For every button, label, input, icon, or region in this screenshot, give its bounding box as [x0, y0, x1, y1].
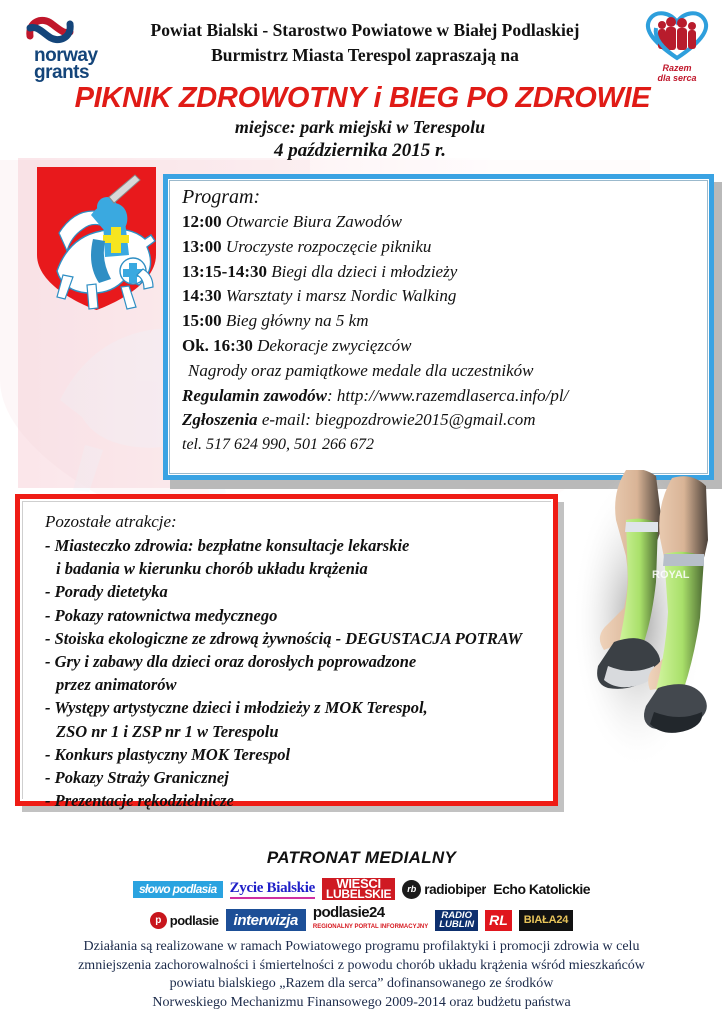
organizer-line-1: Powiat Bialski - Starostwo Powiatowe w B…: [95, 18, 635, 43]
program-row: 14:30 Warsztaty i marsz Nordic Walking: [182, 284, 697, 309]
attraction-item: - Stoiska ekologiczne ze zdrową żywności…: [45, 627, 551, 650]
radio-podlasie-name: podlasie: [170, 913, 219, 928]
radio-lublin-logo[interactable]: RADIO LUBLIN: [435, 910, 478, 931]
zycie-bialskie-logo[interactable]: Zycie Bialskie: [230, 879, 315, 899]
event-title: PIKNIK ZDROWOTNY i BIEG PO ZDROWIE: [30, 82, 695, 114]
footer-text: Działania są realizowane w ramach Powiat…: [10, 938, 713, 1012]
program-text: Uroczyste rozpoczęcie pikniku: [226, 237, 432, 256]
razem-dla-serca-wordmark: Razem dla serca: [639, 63, 715, 83]
program-text: Biegi dla dzieci i młodzieży: [271, 262, 457, 281]
footer-line-2: zmniejszenia zachorowalności i śmierteln…: [10, 957, 713, 976]
program-time: 12:00: [182, 212, 222, 231]
patron-logo-row-2: p podlasie interwizja podlasie24 REGIONA…: [0, 907, 723, 933]
program-text: Otwarcie Biura Zawodów: [226, 212, 402, 231]
attraction-item: - Pokazy ratownictwa medycznego: [45, 604, 551, 627]
razem-line: Razem: [639, 63, 715, 73]
echo-katolickie-logo[interactable]: Echo Katolickie: [493, 881, 590, 897]
rules-url[interactable]: : http://www.razemdlaserca.info/pl/: [327, 386, 568, 405]
footer-line-1: Działania są realizowane w ramach Powiat…: [10, 938, 713, 957]
attraction-item: - Miasteczko zdrowia: bezpłatne konsulta…: [45, 534, 551, 557]
attraction-item: - Występy artystyczne dzieci i młodzieży…: [45, 696, 551, 719]
footer-line-3: powiatu bialskiego „Razem dla serca” dof…: [10, 975, 713, 994]
program-text: Warsztaty i marsz Nordic Walking: [226, 286, 456, 305]
heart-people-icon: [640, 8, 714, 62]
program-row: 13:00 Uroczyste rozpoczęcie pikniku: [182, 235, 697, 260]
wiesci-bottom: LUBELSKIE: [326, 889, 391, 900]
wiesci-lubelskie-logo[interactable]: WIEŚCI LUBELSKIE: [322, 878, 395, 900]
biala24-logo[interactable]: BIAŁA24: [519, 910, 573, 931]
patron-title: PATRONAT MEDIALNY: [0, 848, 723, 868]
poster-root: norway grants Razem dla serca Pow: [0, 0, 723, 1024]
program-heading: Program:: [182, 185, 697, 210]
podlasie-mark-icon: p: [150, 912, 167, 929]
program-row: 12:00 Otwarcie Biura Zawodów: [182, 210, 697, 235]
event-place: miejsce: park miejski w Terespolu: [60, 117, 660, 138]
coat-of-arms-biala-podlaska: [33, 163, 160, 313]
attraction-item: i badania w kierunku chorób układu krąże…: [45, 557, 551, 580]
attractions-content: Pozostałe atrakcje: - Miasteczko zdrowia…: [22, 501, 551, 799]
slowo-podlasia-logo[interactable]: słowo podlasia: [133, 881, 223, 898]
radiobiper-name: radiobiper: [424, 882, 486, 897]
poster-header: norway grants Razem dla serca Pow: [0, 0, 723, 168]
program-time: 14:30: [182, 286, 222, 305]
interwizja-logo[interactable]: interwizja: [226, 909, 306, 931]
radio-lublin-bottom: LUBLIN: [439, 920, 474, 930]
attractions-heading: Pozostałe atrakcje:: [45, 510, 551, 533]
program-time: 13:15-14:30: [182, 262, 267, 281]
rb-mark-icon: rb: [402, 880, 421, 899]
program-row: 15:00 Bieg główny na 5 km: [182, 309, 697, 334]
program-time: 15:00: [182, 311, 222, 330]
program-text: Dekoracje zwycięzców: [257, 336, 411, 355]
attraction-item: - Gry i zabawy dla dzieci oraz dorosłych…: [45, 650, 551, 673]
radio-lublin-mark: RL: [485, 910, 512, 931]
organizer-line-2: Burmistrz Miasta Terespol zapraszają na: [95, 43, 635, 68]
attraction-item: - Pokazy Straży Granicznej: [45, 766, 551, 789]
radio-podlasie-logo[interactable]: p podlasie: [150, 912, 219, 929]
program-rules-row: Regulamin zawodów: http://www.razemdlase…: [182, 384, 697, 409]
podlasie24-logo[interactable]: podlasie24 REGIONALNY PORTAL INFORMACYJN…: [313, 906, 428, 934]
program-awards-note: Nagrody oraz pamiątkowe medale dla uczes…: [188, 359, 697, 384]
rules-label: Regulamin zawodów: [182, 386, 327, 405]
attraction-item: - Prezentacje rękodzielnicze: [45, 789, 551, 812]
attraction-item: - Konkurs plastyczny MOK Terespol: [45, 743, 551, 766]
attraction-item: - Porady dietetyka: [45, 580, 551, 603]
signup-email[interactable]: e-mail: biegpozdrowie2015@gmail.com: [258, 410, 536, 429]
program-row: 13:15-14:30 Biegi dla dzieci i młodzieży: [182, 260, 697, 285]
signup-label: Zgłoszenia: [182, 410, 258, 429]
podlasie24-name: podlasie24: [313, 906, 385, 920]
razem-dla-serca-logo: Razem dla serca: [639, 8, 715, 80]
program-phone: tel. 517 624 990, 501 266 672: [182, 433, 697, 458]
attraction-item: ZSO nr 1 i ZSP nr 1 w Terespolu: [45, 720, 551, 743]
program-text: Bieg główny na 5 km: [226, 311, 369, 330]
footer-line-4: Norweskiego Mechanizmu Finansowego 2009-…: [10, 994, 713, 1013]
attraction-item: przez animatorów: [45, 673, 551, 696]
program-time: Ok. 16:30: [182, 336, 253, 355]
sock-brand-text: ROYAL: [652, 569, 690, 581]
norway-grants-wordmark: norway grants: [34, 47, 98, 81]
patron-logo-row-1: słowo podlasia Zycie Bialskie WIEŚCI LUB…: [0, 877, 723, 901]
program-signup-row: Zgłoszenia e-mail: biegpozdrowie2015@gma…: [182, 408, 697, 433]
program-content: Program: 12:00 Otwarcie Biura Zawodów 13…: [169, 180, 708, 474]
radiobiper-logo[interactable]: rb radiobiper: [402, 880, 486, 899]
program-row: Ok. 16:30 Dekoracje zwycięzców: [182, 334, 697, 359]
podlasie24-sub: REGIONALNY PORTAL INFORMACYJNY: [313, 920, 428, 934]
grants-word: grants: [34, 64, 98, 81]
program-time: 13:00: [182, 237, 222, 256]
event-date: 4 października 2015 r.: [60, 140, 660, 162]
organizers-text: Powiat Bialski - Starostwo Powiatowe w B…: [95, 18, 635, 68]
